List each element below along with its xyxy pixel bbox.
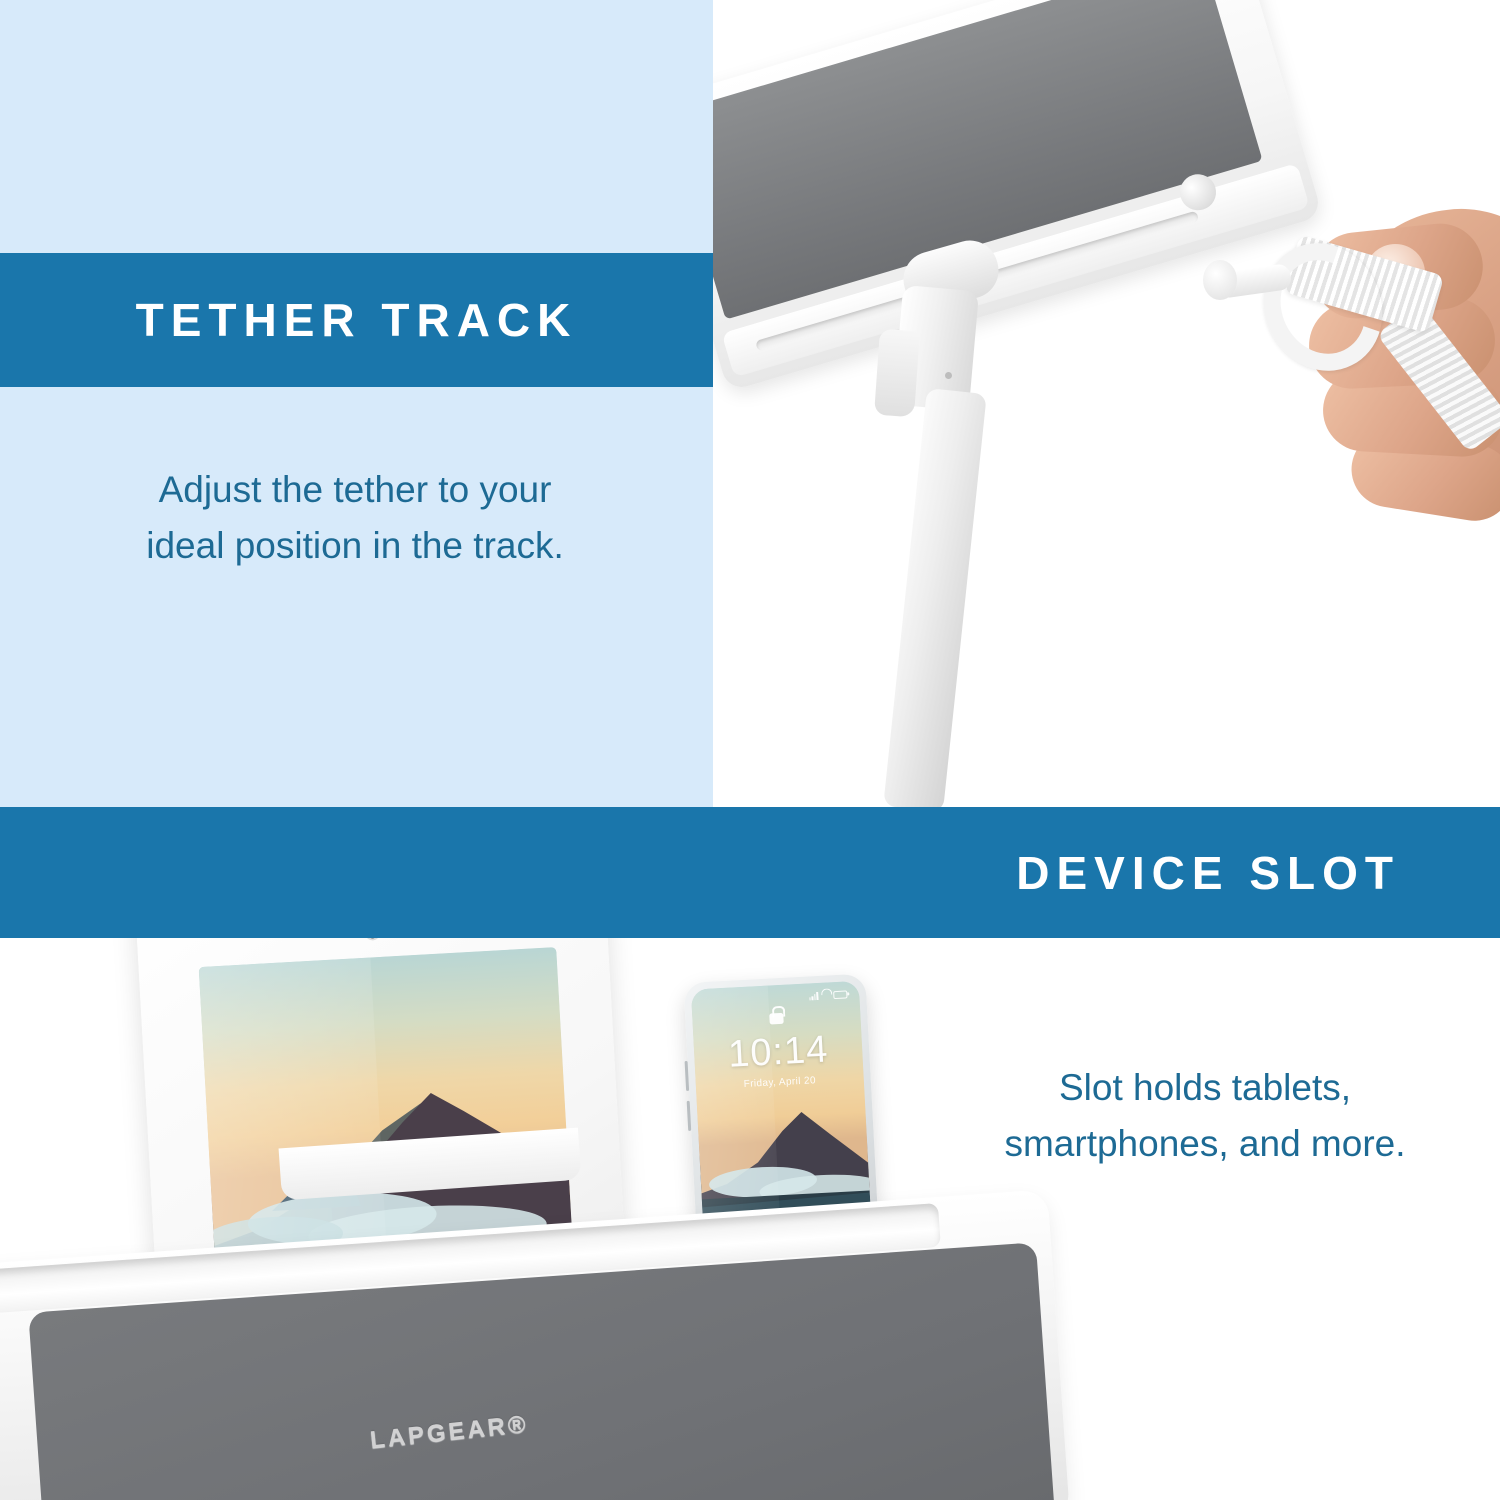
tether-caption-line-2: ideal position in the track. — [45, 518, 665, 574]
leg-screw — [945, 372, 952, 379]
tether-track-photo — [713, 0, 1500, 807]
wifi-icon — [821, 992, 830, 1000]
phone-volume-button[interactable] — [685, 1061, 690, 1091]
lap-desk-icon — [713, 0, 1323, 392]
desk-leg-lower — [883, 388, 987, 807]
signal-icon — [809, 992, 819, 1000]
device-slot-caption: Slot holds tablets, smartphones, and mor… — [925, 1060, 1485, 1172]
tether-track-panel — [0, 0, 713, 807]
lap-desk-devices-scene: 10:14 Friday, April 20 💡 Swipe up to unl… — [0, 938, 1500, 1500]
device-slot-banner: DEVICE SLOT — [0, 807, 1500, 938]
device-slot-heading: DEVICE SLOT — [1016, 850, 1500, 896]
battery-icon — [833, 990, 847, 999]
hand-icon — [1273, 150, 1500, 550]
tether-track-banner: TETHER TRACK — [0, 253, 713, 387]
slot-caption-line-1: Slot holds tablets, — [925, 1060, 1485, 1116]
tether-caption-line-1: Adjust the tether to your — [45, 462, 665, 518]
lap-desk-tether-scene — [713, 0, 1500, 807]
device-slot-photo: 10:14 Friday, April 20 💡 Swipe up to unl… — [0, 938, 1500, 1500]
status-right — [809, 990, 848, 1000]
tether-track-heading: TETHER TRACK — [136, 297, 578, 343]
lock-icon — [769, 1013, 784, 1025]
product-feature-collage: TETHER TRACK Adjust the tether to your i… — [0, 0, 1500, 1500]
phone-power-button[interactable] — [687, 1101, 692, 1131]
tablet-camera-icon — [367, 938, 379, 939]
tether-track-caption: Adjust the tether to your ideal position… — [45, 462, 665, 574]
tether-clip-peg-head — [1203, 260, 1237, 300]
slot-caption-line-2: smartphones, and more. — [925, 1116, 1485, 1172]
leg-adjust-clip — [874, 329, 920, 418]
